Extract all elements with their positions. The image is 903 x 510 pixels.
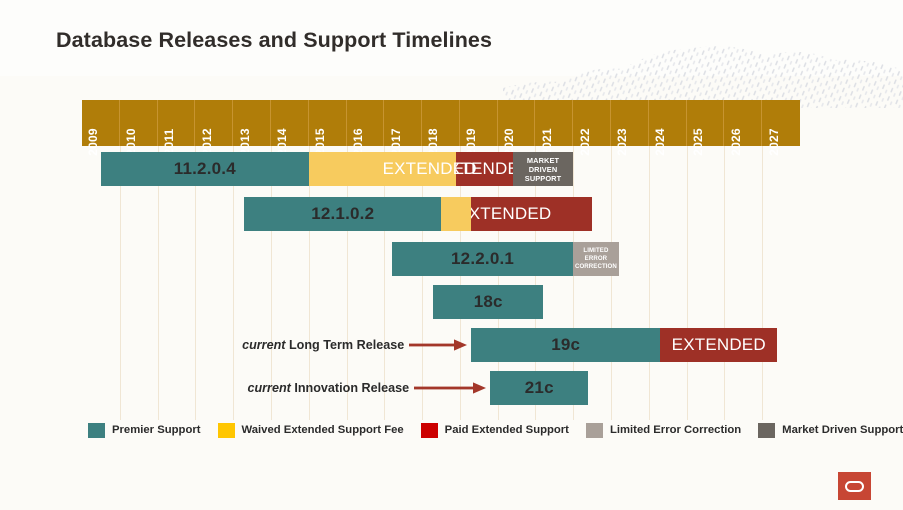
year-axis-cell-2021: 2021: [535, 100, 573, 146]
bar-segment-label: LIMITED ERROR CORRECTION: [573, 247, 618, 271]
annotation-text: current Long Term Release: [242, 338, 404, 352]
annotation-text: current Innovation Release: [247, 381, 409, 395]
bar-segment-12.1.0.2-waived[interactable]: [441, 197, 471, 231]
bar-overlay-label-extended: EXTENDED: [354, 152, 505, 186]
legend-item-4[interactable]: Market Driven Support: [758, 423, 903, 438]
bar-segment-12.2.0.1-lec[interactable]: LIMITED ERROR CORRECTION: [573, 242, 618, 276]
bar-segment-11.2.0.4-mds[interactable]: MARKET DRIVEN SUPPORT: [513, 152, 573, 186]
bar-segment-label: 19c: [551, 335, 580, 355]
annotation-long-term-release: current Long Term Release: [82, 328, 467, 362]
year-axis-cell-2012: 2012: [195, 100, 233, 146]
bar-segment-21c-premier[interactable]: 21c: [490, 371, 588, 405]
annotation-innovation-release: current Innovation Release: [82, 371, 486, 405]
year-axis-cell-2025: 2025: [687, 100, 725, 146]
year-axis-cell-2009: 2009: [82, 100, 120, 146]
year-axis-cell-2010: 2010: [120, 100, 158, 146]
year-axis-cell-2017: 2017: [384, 100, 422, 146]
release-row-11.2.0.4[interactable]: 11.2.0.4EXTENDEDMARKET DRIVEN SUPPORTEXT…: [82, 152, 800, 186]
year-axis-cell-2016: 2016: [347, 100, 385, 146]
bar-segment-label: MARKET DRIVEN SUPPORT: [513, 156, 573, 183]
bar-segment-19c-premier[interactable]: 19c: [471, 328, 660, 362]
legend-swatch: [218, 423, 235, 438]
oracle-logo: [838, 472, 871, 500]
bar-segment-label: 21c: [525, 378, 554, 398]
year-axis-cell-2023: 2023: [611, 100, 649, 146]
legend-label: Waived Extended Support Fee: [242, 424, 404, 436]
legend-swatch: [88, 423, 105, 438]
chart-legend: Premier SupportWaived Extended Support F…: [88, 421, 808, 439]
release-row-12.1.0.2[interactable]: 12.1.0.2EXTENDED: [82, 197, 800, 231]
legend-label: Limited Error Correction: [610, 424, 741, 436]
bar-segment-label: 18c: [474, 292, 503, 312]
year-axis-cell-2019: 2019: [460, 100, 498, 146]
year-axis-cell-2022: 2022: [573, 100, 611, 146]
year-axis-cell-2026: 2026: [724, 100, 762, 146]
legend-swatch: [421, 423, 438, 438]
year-axis-cell-2014: 2014: [271, 100, 309, 146]
year-axis-cell-2015: 2015: [309, 100, 347, 146]
bar-segment-12.2.0.1-premier[interactable]: 12.2.0.1: [392, 242, 573, 276]
legend-swatch: [586, 423, 603, 438]
bar-segment-label: 11.2.0.4: [174, 159, 236, 179]
legend-label: Premier Support: [112, 424, 201, 436]
bar-segment-11.2.0.4-premier[interactable]: 11.2.0.4: [101, 152, 309, 186]
annotation-arrow-icon: [414, 381, 486, 395]
release-row-18c[interactable]: 18c: [82, 285, 800, 319]
year-axis-cell-2013: 2013: [233, 100, 271, 146]
year-axis-cell-2018: 2018: [422, 100, 460, 146]
page-title: Database Releases and Support Timelines: [56, 28, 492, 53]
bar-segment-label: EXTENDED: [672, 335, 766, 355]
bar-segment-label: EXTENDED: [471, 204, 551, 224]
legend-item-3[interactable]: Limited Error Correction: [586, 423, 741, 438]
bar-segment-12.1.0.2-premier[interactable]: 12.1.0.2: [244, 197, 441, 231]
legend-label: Paid Extended Support: [445, 424, 569, 436]
bar-segment-18c-premier[interactable]: 18c: [433, 285, 543, 319]
year-axis-cell-2011: 2011: [158, 100, 196, 146]
bar-segment-label: EXTENDED: [383, 159, 477, 179]
legend-item-2[interactable]: Paid Extended Support: [421, 423, 569, 438]
legend-label: Market Driven Support: [782, 424, 903, 436]
oracle-oval-icon: [845, 481, 864, 492]
bar-segment-12.1.0.2-paid[interactable]: EXTENDED: [471, 197, 592, 231]
gantt-chart: 2009201020112012201320142015201620172018…: [82, 100, 800, 420]
slide-canvas: Database Releases and Support Timelines …: [0, 0, 903, 510]
bar-segment-label: 12.1.0.2: [311, 204, 374, 224]
release-row-12.2.0.1[interactable]: 12.2.0.1LIMITED ERROR CORRECTION: [82, 242, 800, 276]
annotation-arrow-icon: [409, 338, 467, 352]
legend-item-1[interactable]: Waived Extended Support Fee: [218, 423, 404, 438]
year-axis-cell-2027: 2027: [762, 100, 800, 146]
year-axis-cell-2020: 2020: [498, 100, 536, 146]
year-axis-cell-2024: 2024: [649, 100, 687, 146]
year-axis-header: 2009201020112012201320142015201620172018…: [82, 100, 800, 146]
bar-segment-19c-paid[interactable]: EXTENDED: [660, 328, 777, 362]
bar-segment-label: 12.2.0.1: [451, 249, 514, 269]
legend-swatch: [758, 423, 775, 438]
legend-item-0[interactable]: Premier Support: [88, 423, 201, 438]
